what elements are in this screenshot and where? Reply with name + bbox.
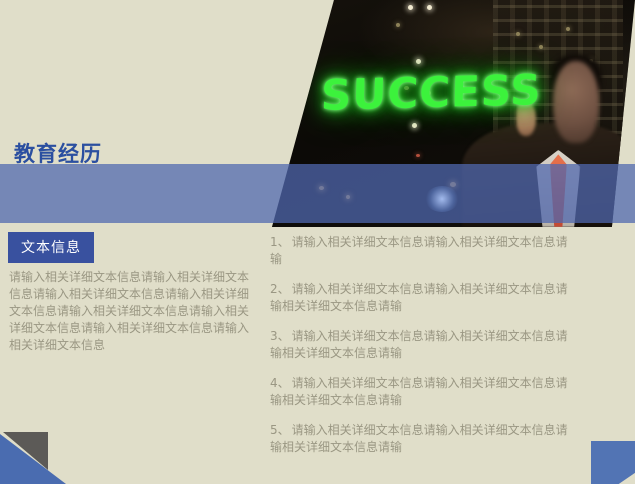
numbered-list: 1、请输入相关详细文本信息请输入相关详细文本信息请输2、请输入相关详细文本信息请… bbox=[270, 234, 575, 469]
blue-accent-band bbox=[0, 164, 635, 223]
list-item-text: 请输入相关详细文本信息请输入相关详细文本信息请输相关详细文本信息请输 bbox=[270, 376, 568, 407]
slide-canvas: SUCCESS 教育经历 文本信息 请输入相关详细文本信息请输入相关详细文本信息… bbox=[0, 0, 635, 484]
list-item: 4、请输入相关详细文本信息请输入相关详细文本信息请输相关详细文本信息请输 bbox=[270, 375, 575, 409]
page-title: 教育经历 bbox=[14, 138, 102, 168]
corner-shape-blue bbox=[591, 441, 635, 484]
success-neon-text: SUCCESS bbox=[284, 64, 578, 121]
list-item-number: 2、 bbox=[270, 282, 290, 296]
left-paragraph: 请输入相关详细文本信息请输入相关详细文本信息请输入相关详细文本信息请输入相关详细… bbox=[9, 269, 249, 354]
list-item: 1、请输入相关详细文本信息请输入相关详细文本信息请输 bbox=[270, 234, 575, 268]
list-item: 2、请输入相关详细文本信息请输入相关详细文本信息请输相关详细文本信息请输 bbox=[270, 281, 575, 315]
list-item-text: 请输入相关详细文本信息请输入相关详细文本信息请输相关详细文本信息请输 bbox=[270, 282, 568, 313]
list-item-number: 4、 bbox=[270, 376, 290, 390]
list-item-text: 请输入相关详细文本信息请输入相关详细文本信息请输 bbox=[270, 235, 568, 266]
list-item-text: 请输入相关详细文本信息请输入相关详细文本信息请输相关详细文本信息请输 bbox=[270, 329, 568, 360]
list-item: 5、请输入相关详细文本信息请输入相关详细文本信息请输相关详细文本信息请输 bbox=[270, 422, 575, 456]
section-tag: 文本信息 bbox=[8, 232, 94, 263]
list-item-number: 3、 bbox=[270, 329, 290, 343]
list-item-number: 1、 bbox=[270, 235, 290, 249]
list-item-number: 5、 bbox=[270, 423, 290, 437]
list-item-text: 请输入相关详细文本信息请输入相关详细文本信息请输相关详细文本信息请输 bbox=[270, 423, 568, 454]
list-item: 3、请输入相关详细文本信息请输入相关详细文本信息请输相关详细文本信息请输 bbox=[270, 328, 575, 362]
lens-flare bbox=[425, 186, 459, 212]
